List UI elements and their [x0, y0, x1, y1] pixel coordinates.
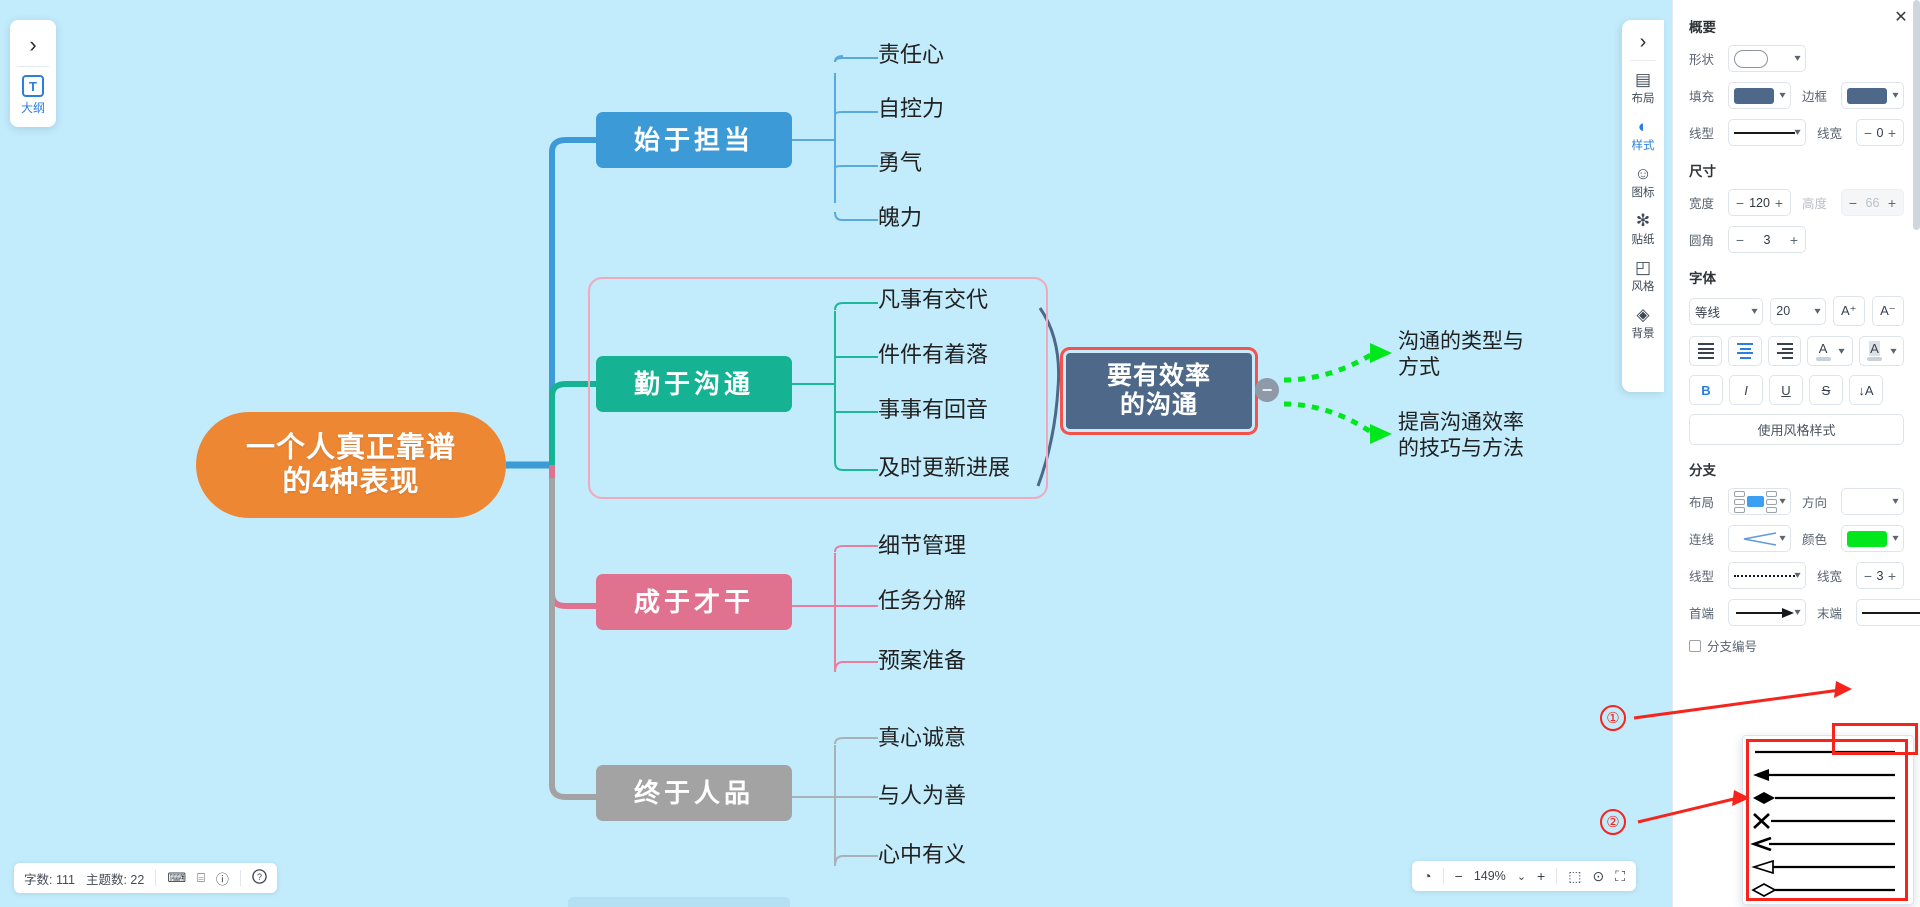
align-left-icon [1698, 343, 1714, 359]
chevron-down-icon: ▾ [1814, 306, 1820, 317]
branch-connector-label: 连线 [1689, 529, 1721, 548]
shape-row: 形状 ▾ [1689, 45, 1904, 72]
highlight-color-button[interactable]: A ▾ [1859, 336, 1904, 366]
height-label: 高度 [1802, 193, 1834, 212]
panel-title: 概要 [1689, 16, 1904, 36]
plus-icon[interactable]: + [1773, 195, 1785, 211]
collapse-toggle-icon[interactable]: − [1255, 378, 1279, 402]
collapse-panel-icon[interactable]: › [1622, 24, 1664, 60]
end-option-cross[interactable] [1743, 809, 1913, 832]
leaf-branch2-0[interactable]: 凡事有交代 [878, 287, 988, 314]
line-style-select[interactable]: ▾ [1728, 119, 1806, 146]
leaf-branch1-2[interactable]: 勇气 [878, 150, 922, 177]
help-icon[interactable]: ? [252, 869, 267, 887]
radius-label: 圆角 [1689, 230, 1721, 249]
line-width-stepper[interactable]: − 0 + [1856, 119, 1904, 146]
height-stepper: − 66 + [1841, 189, 1904, 216]
chevron-down-icon: ▾ [1794, 570, 1800, 581]
italic-button[interactable]: I [1729, 375, 1763, 405]
leaf-selected-0[interactable]: 沟通的类型与 方式 [1398, 329, 1524, 380]
branch-line-style-label: 线型 [1689, 566, 1721, 585]
decrease-font-button[interactable]: A⁻ [1872, 296, 1904, 326]
chevron-down-icon: ▾ [1892, 90, 1898, 101]
text-color-button[interactable]: A ▾ [1807, 336, 1852, 366]
bold-button[interactable]: B [1689, 375, 1723, 405]
branch-number-checkbox[interactable] [1689, 640, 1701, 652]
mindmap-selected-node[interactable]: 要有效率 的沟通 [1066, 353, 1252, 429]
chevron-down-icon: ▾ [1779, 496, 1785, 507]
chevron-down-icon: ▾ [1839, 346, 1845, 357]
tab-label: 图标 [1622, 184, 1664, 200]
align-center-button[interactable] [1728, 336, 1761, 366]
plus-icon[interactable]: + [1886, 568, 1898, 584]
align-right-button[interactable] [1768, 336, 1801, 366]
use-theme-style-button[interactable]: 使用风格样式 [1689, 414, 1904, 445]
branch-color-select[interactable]: ▾ [1841, 525, 1904, 552]
leaf-branch2-3[interactable]: 及时更新进展 [878, 455, 1010, 482]
radius-row: 圆角 − 3 + [1689, 226, 1904, 253]
branch-line-width-stepper[interactable]: − 3 + [1856, 562, 1904, 589]
divider [1630, 60, 1656, 61]
branch-direction-select[interactable]: ▾ [1841, 488, 1904, 515]
vertical-text-button[interactable]: ↓A [1849, 375, 1883, 405]
minus-icon[interactable]: − [1734, 232, 1746, 248]
chevron-down-icon: ▾ [1890, 346, 1896, 357]
line-row: 线型 ▾ 线宽 − 0 + [1689, 119, 1904, 146]
chevron-down-icon: ▾ [1752, 306, 1758, 317]
layout-preview-icon [1734, 491, 1777, 513]
panel-scrollbar[interactable] [1913, 0, 1920, 230]
increase-font-button[interactable]: A⁺ [1833, 296, 1865, 326]
zoom-level-value: 149% [1474, 869, 1506, 883]
mindmap-branch-3[interactable]: 成于才干 [596, 574, 792, 630]
border-label: 边框 [1802, 86, 1834, 105]
divider [1556, 868, 1557, 884]
leaf-branch1-1[interactable]: 自控力 [878, 96, 944, 123]
palette-icon: ◐ [1622, 117, 1664, 136]
branch-direction-label: 方向 [1802, 492, 1834, 511]
branch-end-label: 末端 [1817, 603, 1849, 622]
zoom-out-button[interactable]: − [1455, 868, 1463, 884]
svg-text:?: ? [257, 872, 262, 882]
pan-hand-icon[interactable]: ◔ [1423, 868, 1431, 884]
chevron-down-icon[interactable]: ⌄ [1517, 870, 1526, 883]
tab-sticker[interactable]: ✻ 贴纸 [1622, 206, 1664, 253]
radius-stepper[interactable]: − 3 + [1728, 226, 1806, 253]
fill-swatch [1734, 88, 1774, 104]
fill-border-row: 填充 ▾ 边框 ▾ [1689, 82, 1904, 109]
width-value: 120 [1749, 196, 1770, 210]
leaf-branch1-0[interactable]: 责任心 [878, 42, 944, 69]
mindmap-branch-1[interactable]: 始于担当 [596, 112, 792, 168]
minus-icon[interactable]: − [1862, 125, 1874, 141]
branch-color-label: 颜色 [1802, 529, 1834, 548]
layers-icon: ◈ [1622, 305, 1664, 324]
leaf-branch3-1[interactable]: 任务分解 [878, 588, 966, 615]
align-center-icon [1737, 343, 1753, 359]
leaf-branch3-0[interactable]: 细节管理 [878, 533, 966, 560]
width-label: 宽度 [1689, 193, 1721, 212]
leaf-branch4-0[interactable]: 真心诚意 [878, 725, 966, 752]
center-view-icon[interactable]: ⊙ [1592, 868, 1604, 885]
minus-icon[interactable]: − [1862, 568, 1874, 584]
width-stepper[interactable]: − 120 + [1728, 189, 1791, 216]
branch-section-title: 分支 [1689, 459, 1904, 479]
connector-shape-icon [1734, 530, 1780, 548]
branch-line-width-label: 线宽 [1817, 566, 1849, 585]
height-value: 66 [1866, 196, 1880, 210]
leaf-branch4-1[interactable]: 与人为善 [878, 783, 966, 810]
left-toolbar: › T 大纲 [10, 20, 56, 127]
minus-icon: − [1847, 195, 1859, 211]
sidebar-item-label: 大纲 [10, 99, 56, 116]
branch-end-dropdown[interactable] [1742, 735, 1914, 905]
end-plain-line-icon [1862, 612, 1920, 614]
tab-label: 背景 [1622, 325, 1664, 341]
font-size-value: 20 [1776, 304, 1790, 318]
underline-button[interactable]: U [1769, 375, 1803, 405]
tab-label: 样式 [1622, 137, 1664, 153]
radius-value: 3 [1764, 233, 1771, 247]
end-option-hollow-diamond[interactable] [1743, 878, 1913, 901]
close-icon[interactable]: ✕ [1890, 6, 1912, 28]
end-option-filled-diamond[interactable] [1743, 786, 1913, 809]
font-section-title: 字体 [1689, 267, 1904, 287]
branch-number-label: 分支编号 [1707, 636, 1757, 655]
leaf-branch1-3[interactable]: 魄力 [878, 205, 922, 232]
border-swatch [1847, 88, 1887, 104]
leaf-branch3-2[interactable]: 预案准备 [878, 648, 966, 675]
fullscreen-icon[interactable]: ⛶ [1615, 868, 1625, 885]
end-option-filled-arrow[interactable] [1743, 763, 1913, 786]
font-family-select[interactable]: 等线 ▾ [1689, 298, 1763, 325]
word-count: 字数: 111 [24, 869, 75, 888]
end-option-hollow-triangle[interactable] [1743, 855, 1913, 878]
text-format-row: B I U S ↓A [1689, 375, 1904, 405]
chevron-down-icon: ▾ [1794, 53, 1800, 64]
font-row: 等线 ▾ 20 ▾ A⁺ A⁻ [1689, 296, 1904, 326]
text-outline-icon: T [22, 75, 44, 97]
color-underline [1816, 357, 1831, 361]
align-left-button[interactable] [1689, 336, 1722, 366]
canvas-edge-handle[interactable] [568, 897, 790, 907]
tab-style[interactable]: ◐ 样式 [1622, 112, 1664, 159]
branch-start-select[interactable]: ▾ [1728, 599, 1806, 626]
sidebar-item-outline[interactable]: T 大纲 [10, 69, 56, 121]
plus-icon[interactable]: + [1788, 232, 1800, 248]
highlight-icon: A [1869, 341, 1880, 356]
tab-theme[interactable]: ◰ 风格 [1622, 253, 1664, 300]
annotation-1: ① [1600, 705, 1626, 731]
branch-end-select[interactable]: ▾ [1856, 599, 1920, 626]
topic-count: 主题数: 22 [86, 869, 144, 888]
branch-line-row: 线型 ▾ 线宽 − 3 + [1689, 562, 1904, 589]
smiley-icon: ☺ [1622, 164, 1664, 183]
branch-line-style-select[interactable]: ▾ [1728, 562, 1806, 589]
statusbar: 字数: 111 主题数: 22 ⌨ ⌸ ⓘ ? [14, 863, 277, 893]
divider [240, 870, 241, 886]
border-color-select[interactable]: ▾ [1841, 82, 1904, 109]
shape-label: 形状 [1689, 49, 1721, 68]
mindmap-canvas[interactable]: 一个人真正靠谱 的4种表现 始于担当 责任心 自控力 勇气 魄力 勤于沟通 凡事… [0, 0, 1672, 907]
branch-layout-label: 布局 [1689, 492, 1721, 511]
branch-layout-select[interactable]: ▾ [1728, 488, 1791, 515]
mindmap-root-node[interactable]: 一个人真正靠谱 的4种表现 [196, 412, 506, 518]
line-width-value: 0 [1877, 126, 1884, 140]
chevron-down-icon: ▾ [1794, 607, 1800, 618]
chevron-down-icon: ▾ [1779, 90, 1785, 101]
leaf-branch4-2[interactable]: 心中有义 [878, 842, 966, 869]
tab-label: 风格 [1622, 278, 1664, 294]
leaf-branch2-1[interactable]: 件件有着落 [878, 342, 988, 369]
tab-label: 布局 [1622, 90, 1664, 106]
size-section-title: 尺寸 [1689, 160, 1904, 180]
fit-to-screen-icon[interactable]: ⬚ [1568, 868, 1581, 885]
zoom-in-button[interactable]: + [1537, 868, 1545, 884]
expand-panel-icon[interactable]: › [10, 26, 56, 64]
minus-icon[interactable]: − [1734, 195, 1746, 211]
chevron-down-icon: ▾ [1892, 533, 1898, 544]
branch-cap-row: 首端 ▾ 末端 ▾ [1689, 599, 1904, 626]
mindmap-branch-2[interactable]: 勤于沟通 [596, 356, 792, 412]
tab-label: 贴纸 [1622, 231, 1664, 247]
size-row: 宽度 − 120 + 高度 − 66 + [1689, 189, 1904, 216]
info-icon[interactable]: ⓘ [216, 869, 229, 888]
font-size-select[interactable]: 20 ▾ [1770, 298, 1825, 325]
rounded-rect-icon [1734, 50, 1768, 68]
branch-connector-select[interactable]: ▾ [1728, 525, 1791, 552]
branch-layout-row: 布局 ▾ 方向 ▾ [1689, 488, 1904, 515]
divider [17, 66, 49, 67]
tab-icon[interactable]: ☺ 图标 [1622, 159, 1664, 206]
ruler-icon[interactable]: ⌸ [197, 870, 205, 886]
text-color-icon: A [1819, 341, 1828, 356]
shape-select[interactable]: ▾ [1728, 45, 1806, 72]
annotation-2: ② [1600, 809, 1626, 835]
branch-connector-row: 连线 ▾ 颜色 ▾ [1689, 525, 1904, 552]
line-width-label: 线宽 [1817, 123, 1849, 142]
divider [1443, 868, 1444, 884]
leaf-branch2-2[interactable]: 事事有回音 [878, 397, 988, 424]
font-family-value: 等线 [1695, 302, 1720, 321]
align-row: A ▾ A ▾ [1689, 336, 1904, 366]
branch-start-label: 首端 [1689, 603, 1721, 622]
divider [155, 870, 156, 886]
line-style-label: 线型 [1689, 123, 1721, 142]
solid-line-icon [1734, 132, 1795, 134]
color-underline [1867, 357, 1882, 361]
dotted-line-icon [1734, 575, 1795, 577]
mindmap-branch-4[interactable]: 终于人品 [596, 765, 792, 821]
layout-icon: ▤ [1622, 70, 1664, 89]
panel-tabbar: › ▤ 布局 ◐ 样式 ☺ 图标 ✻ 贴纸 ◰ 风格 ◈ 背景 [1622, 20, 1664, 392]
sticker-icon: ✻ [1622, 211, 1664, 230]
end-option-plain-line[interactable] [1743, 740, 1913, 763]
chevron-down-icon: ▾ [1779, 533, 1785, 544]
tab-background[interactable]: ◈ 背景 [1622, 300, 1664, 347]
end-option-open-arrow[interactable] [1743, 832, 1913, 855]
branch-color-swatch [1847, 531, 1887, 547]
keyboard-icon[interactable]: ⌨ [167, 870, 186, 886]
start-arrow-icon [1734, 607, 1795, 619]
chevron-down-icon: ▾ [1892, 496, 1898, 507]
tab-layout[interactable]: ▤ 布局 [1622, 65, 1664, 112]
fill-color-select[interactable]: ▾ [1728, 82, 1791, 109]
grid-icon: ◰ [1622, 258, 1664, 277]
strikethrough-button[interactable]: S [1809, 375, 1843, 405]
leaf-selected-1[interactable]: 提高沟通效率 的技巧与方法 [1398, 410, 1524, 461]
fill-label: 填充 [1689, 86, 1721, 105]
branch-line-width-value: 3 [1877, 569, 1884, 583]
plus-icon[interactable]: + [1886, 125, 1898, 141]
plus-icon: + [1886, 195, 1898, 211]
align-right-icon [1777, 343, 1793, 359]
chevron-down-icon: ▾ [1794, 127, 1800, 138]
branch-number-row[interactable]: 分支编号 [1689, 636, 1904, 655]
zoom-toolbar: ◔ − 149% ⌄ + ⬚ ⊙ ⛶ [1412, 861, 1636, 891]
